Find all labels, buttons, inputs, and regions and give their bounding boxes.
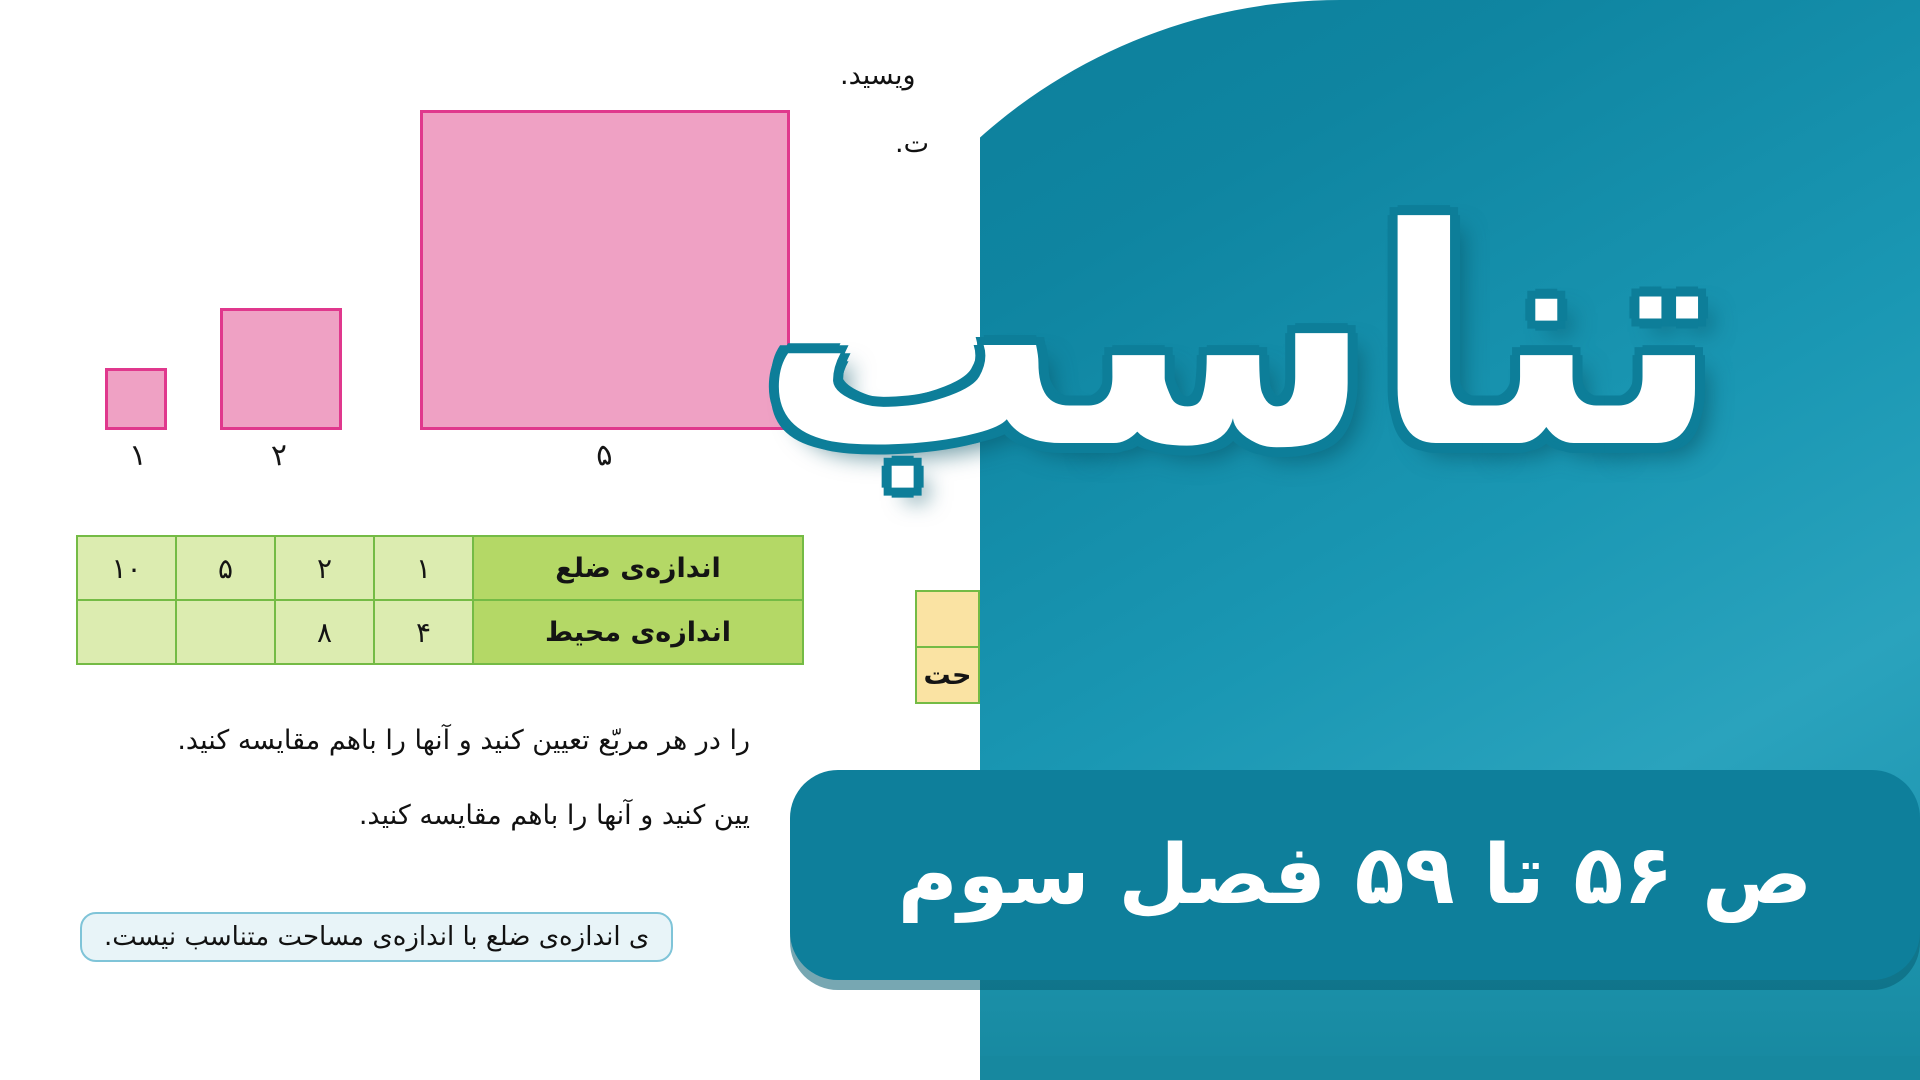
instruction-line-2: یین کنید و آنها را باهم مقایسه کنید. [359, 800, 750, 831]
side-perimeter-table: اندازه‌ی ضلع ۱ ۲ ۵ ۱۰ اندازه‌ی محیط ۴ ۸ [76, 535, 804, 665]
cell-side-3: ۵ [176, 536, 275, 600]
square-1 [105, 368, 167, 430]
cut-text-line-1: ویسید. [840, 60, 916, 91]
area-table-partial: حت [915, 590, 980, 704]
square-2-label: ۲ [270, 437, 291, 474]
cell-side-2: ۲ [275, 536, 374, 600]
table-row: اندازه‌ی ضلع ۱ ۲ ۵ ۱۰ [77, 536, 803, 600]
cut-text-line-2: ت. [895, 128, 929, 159]
cell-perimeter-3 [176, 600, 275, 664]
chapter-pill-label: ص ۵۶ تا ۵۹ فصل سوم [898, 828, 1813, 923]
table-row: حت [916, 647, 979, 703]
cell-area-empty [916, 591, 979, 647]
conclusion-callout: ی اندازه‌ی ضلع با اندازه‌ی مساحت متناسب … [80, 912, 673, 962]
row-header-perimeter: اندازه‌ی محیط [473, 600, 803, 664]
square-5 [420, 110, 790, 430]
row-header-side: اندازه‌ی ضلع [473, 536, 803, 600]
table-row [916, 591, 979, 647]
square-2 [220, 308, 342, 430]
cell-side-1: ۱ [374, 536, 473, 600]
cell-area-label: حت [916, 647, 979, 703]
cell-perimeter-4 [77, 600, 176, 664]
cell-perimeter-1: ۴ [374, 600, 473, 664]
chapter-pill-button[interactable]: ص ۵۶ تا ۵۹ فصل سوم [790, 770, 1920, 980]
square-1-label: ۱ [128, 437, 149, 474]
instruction-line-1: را در هر مربّع تعیین کنید و آنها را باهم… [177, 725, 750, 756]
slide-canvas: ۱ ۲ ۵ ویسید. ت. اندازه‌ی ضلع ۱ ۲ ۵ ۱۰ ان… [0, 0, 1920, 1080]
table-row: اندازه‌ی محیط ۴ ۸ [77, 600, 803, 664]
cell-side-4: ۱۰ [77, 536, 176, 600]
square-5-label: ۵ [594, 437, 615, 474]
cell-perimeter-2: ۸ [275, 600, 374, 664]
